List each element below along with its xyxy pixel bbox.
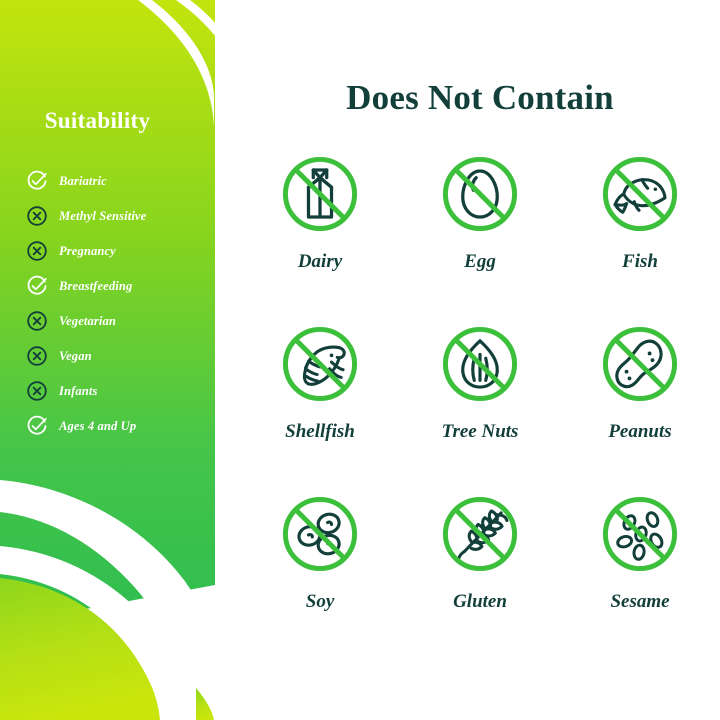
x-circle-icon [26, 240, 48, 262]
suitability-item-label: Pregnancy [59, 244, 116, 259]
shrimp-no-icon [272, 316, 368, 412]
almond-no-icon [432, 316, 528, 412]
sidebar-title: Suitability [0, 108, 195, 134]
peanut-no-icon [592, 316, 688, 412]
suitability-item-vegan: Vegan [26, 343, 216, 370]
check-circle-icon [26, 275, 48, 297]
x-circle-icon [26, 380, 48, 402]
allergen-item-gluten: Gluten [410, 486, 550, 656]
allergen-item-tree-nuts: Tree Nuts [410, 316, 550, 486]
allergen-label: Dairy [298, 251, 342, 273]
allergen-label: Shellfish [285, 421, 355, 443]
allergen-label: Tree Nuts [442, 421, 519, 443]
soybean-no-icon [272, 486, 368, 582]
allergen-label: Soy [306, 591, 335, 613]
suitability-item-label: Ages 4 and Up [59, 419, 136, 434]
suitability-item-bariatric: Bariatric [26, 168, 216, 195]
allergen-item-shellfish: Shellfish [250, 316, 390, 486]
check-circle-icon [26, 415, 48, 437]
allergen-item-dairy: Dairy [250, 146, 390, 316]
allergen-info-card: Suitability Bariatric Methyl Sensitive [0, 0, 720, 720]
allergen-item-sesame: Sesame [570, 486, 710, 656]
allergen-label: Sesame [610, 591, 669, 613]
sesame-seeds-no-icon [592, 486, 688, 582]
suitability-item-label: Vegetarian [59, 314, 116, 329]
allergen-item-egg: Egg [410, 146, 550, 316]
page-title: Does Not Contain [240, 78, 720, 118]
suitability-item-label: Methyl Sensitive [59, 209, 146, 224]
suitability-item-breastfeeding: Breastfeeding [26, 273, 216, 300]
suitability-item-label: Infants [59, 384, 98, 399]
allergen-label: Gluten [453, 591, 507, 613]
suitability-list: Bariatric Methyl Sensitive Pregnancy [26, 168, 216, 448]
wheat-no-icon [432, 486, 528, 582]
fish-no-icon [592, 146, 688, 242]
x-circle-icon [26, 205, 48, 227]
allergen-item-soy: Soy [250, 486, 390, 656]
x-circle-icon [26, 345, 48, 367]
allergen-label: Fish [622, 251, 658, 273]
x-circle-icon [26, 310, 48, 332]
suitability-item-vegetarian: Vegetarian [26, 308, 216, 335]
suitability-sidebar: Suitability Bariatric Methyl Sensitive [0, 0, 215, 620]
egg-no-icon [432, 146, 528, 242]
allergen-label: Peanuts [608, 421, 671, 443]
check-circle-icon [26, 170, 48, 192]
allergen-item-peanuts: Peanuts [570, 316, 710, 486]
allergen-item-fish: Fish [570, 146, 710, 316]
suitability-item-label: Vegan [59, 349, 92, 364]
suitability-item-label: Breastfeeding [59, 279, 132, 294]
does-not-contain-section: Does Not Contain Dairy [240, 0, 720, 720]
suitability-item-ages-4-and-up: Ages 4 and Up [26, 413, 216, 440]
suitability-item-infants: Infants [26, 378, 216, 405]
suitability-item-methyl-sensitive: Methyl Sensitive [26, 203, 216, 230]
suitability-item-label: Bariatric [59, 174, 107, 189]
allergen-grid: Dairy Egg [240, 146, 720, 656]
milk-carton-no-icon [272, 146, 368, 242]
decor-bottom-shape-2 [196, 688, 214, 720]
suitability-item-pregnancy: Pregnancy [26, 238, 216, 265]
allergen-label: Egg [464, 251, 496, 273]
